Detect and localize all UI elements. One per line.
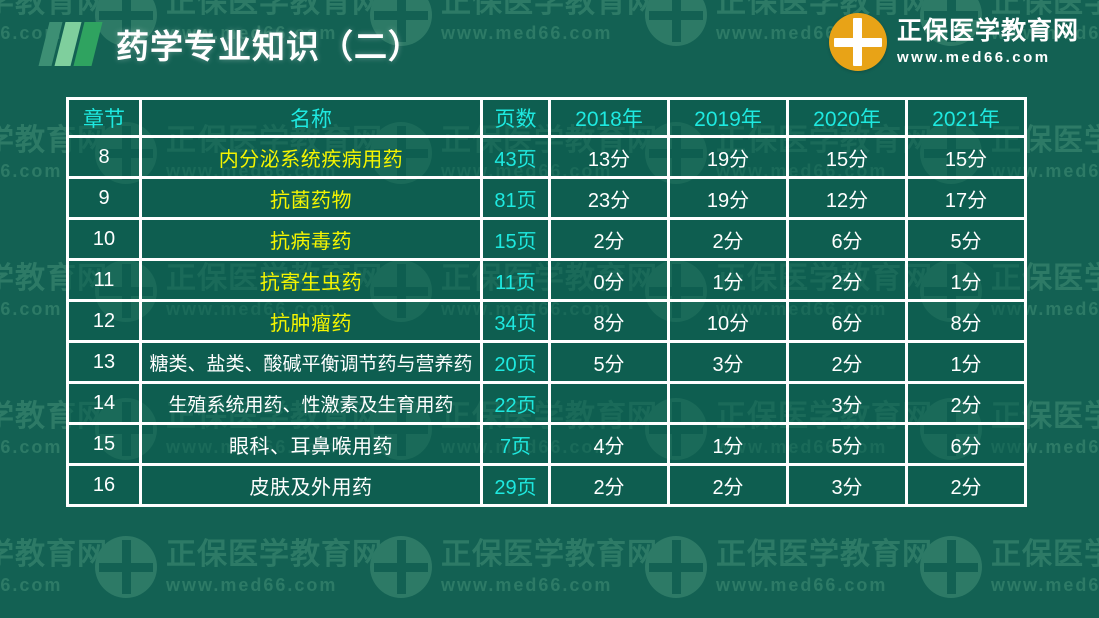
cell-y2018: 13分 [551, 138, 670, 179]
cell-y2019-value: 19分 [707, 149, 749, 171]
cell-y2020-value: 3分 [831, 477, 862, 499]
cell-y2019 [670, 384, 789, 425]
cell-y2020: 5分 [789, 425, 908, 466]
cell-name: 内分泌系统疾病用药 [142, 138, 483, 179]
cell-y2021-value: 17分 [945, 190, 987, 212]
cell-y2021: 17分 [908, 179, 1027, 220]
cell-chapter-value: 12 [93, 310, 115, 332]
cell-y2020: 15分 [789, 138, 908, 179]
cell-chapter-value: 14 [93, 392, 115, 414]
column-header-pages: 页数 [483, 97, 551, 138]
table-row: 15眼科、耳鼻喉用药7页4分1分5分6分 [66, 425, 1027, 466]
watermark-name: 正保医学教育网 [441, 540, 658, 570]
watermark-text: 正保医学教育网www.med66.com [166, 540, 383, 594]
cell-y2020-value: 2分 [831, 354, 862, 376]
cell-y2019-value: 10分 [707, 313, 749, 335]
cell-name-value: 生殖系统用药、性激素及生育用药 [168, 395, 453, 416]
column-header-2020: 2020年 [789, 97, 908, 138]
column-header-2018: 2018年 [551, 97, 670, 138]
cell-y2018-value: 2分 [593, 477, 624, 499]
cell-y2021-value: 8分 [950, 313, 981, 335]
cell-name: 抗肿瘤药 [142, 302, 483, 343]
cell-pages-value: 81页 [494, 190, 536, 212]
cell-y2018-value: 5分 [593, 354, 624, 376]
cell-y2018: 2分 [551, 466, 670, 507]
cell-name-value: 内分泌系统疾病用药 [219, 149, 404, 171]
cell-y2019: 19分 [670, 179, 789, 220]
cell-y2020: 2分 [789, 261, 908, 302]
cell-name-value: 抗肿瘤药 [270, 313, 352, 335]
watermark-url: www.med66.com [166, 576, 383, 594]
cell-name-value: 糖类、盐类、酸碱平衡调节药与营养药 [149, 354, 472, 375]
cell-y2018-value: 13分 [588, 149, 630, 171]
cell-pages-value: 7页 [500, 436, 531, 458]
brand-text: 正保医学教育网 www.med66.com [897, 19, 1079, 65]
cell-pages-value: 22页 [494, 395, 536, 417]
cell-chapter: 13 [66, 343, 142, 384]
column-header-name: 名称 [142, 97, 483, 138]
cell-y2021-value: 5分 [950, 231, 981, 253]
table-row: 12抗肿瘤药34页8分10分6分8分 [66, 302, 1027, 343]
cell-y2021-value: 2分 [950, 477, 981, 499]
table-row: 11抗寄生虫药11页0分1分2分1分 [66, 261, 1027, 302]
cell-chapter-value: 11 [94, 269, 115, 291]
column-header-2021: 2021年 [908, 97, 1027, 138]
table-row: 16皮肤及外用药29页2分2分3分2分 [66, 466, 1027, 507]
watermark-tile: 正保医学教育网www.med66.com [0, 536, 108, 598]
cell-name: 抗寄生虫药 [142, 261, 483, 302]
cell-chapter: 8 [66, 138, 142, 179]
watermark-text: 正保医学教育网www.med66.com [716, 540, 933, 594]
watermark-name: 正保医学教育网 [991, 540, 1099, 570]
cell-y2021-value: 1分 [950, 272, 981, 294]
cell-name: 皮肤及外用药 [142, 466, 483, 507]
cross-circle-logo-icon [95, 536, 157, 598]
cell-y2019: 2分 [670, 466, 789, 507]
cell-y2019: 2分 [670, 220, 789, 261]
cell-y2020-value: 12分 [826, 190, 868, 212]
cell-chapter-value: 10 [93, 228, 115, 250]
cell-pages: 20页 [483, 343, 551, 384]
column-header-2019: 2019年 [670, 97, 789, 138]
cell-y2020: 6分 [789, 220, 908, 261]
cell-pages: 43页 [483, 138, 551, 179]
table-row: 10抗病毒药15页2分2分6分5分 [66, 220, 1027, 261]
cell-y2019-value: 1分 [712, 436, 743, 458]
cell-y2019-value: 2分 [712, 477, 743, 499]
column-header-chapter: 章节 [66, 97, 142, 138]
table-row: 14生殖系统用药、性激素及生育用药22页3分2分 [66, 384, 1027, 425]
table-row: 13糖类、盐类、酸碱平衡调节药与营养药20页5分3分2分1分 [66, 343, 1027, 384]
column-header-2020-label: 2020年 [813, 108, 881, 131]
cell-pages-value: 11页 [495, 272, 536, 294]
cell-y2018-value: 23分 [588, 190, 630, 212]
cell-y2021-value: 1分 [950, 354, 981, 376]
cell-y2019: 19分 [670, 138, 789, 179]
cell-y2021-value: 6分 [950, 436, 981, 458]
cell-pages: 22页 [483, 384, 551, 425]
watermark-text: 正保医学教育网www.med66.com [441, 540, 658, 594]
cell-y2019-value: 1分 [712, 272, 743, 294]
brand-name: 正保医学教育网 [897, 19, 1079, 44]
watermark-name: 正保医学教育网 [0, 540, 108, 570]
cell-y2020: 6分 [789, 302, 908, 343]
watermark-tile: 正保医学教育网www.med66.com [95, 536, 383, 598]
cross-circle-logo-icon [920, 536, 982, 598]
cell-chapter-value: 15 [93, 433, 115, 455]
cell-y2018: 2分 [551, 220, 670, 261]
watermark-name: 正保医学教育网 [716, 540, 933, 570]
table-header: 章节 名称 页数 2018年 2019年 2020年 2021年 [66, 97, 1027, 138]
watermark-tile: 正保医学教育网www.med66.com [645, 536, 933, 598]
table-row: 9抗菌药物81页23分19分12分17分 [66, 179, 1027, 220]
watermark-url: www.med66.com [716, 576, 933, 594]
cell-name-value: 皮肤及外用药 [250, 477, 373, 499]
cell-y2018-value: 4分 [593, 436, 624, 458]
cell-pages: 29页 [483, 466, 551, 507]
page-title: 药学专业知识（二） [116, 20, 422, 68]
cell-chapter: 9 [66, 179, 142, 220]
watermark-name: 正保医学教育网 [166, 540, 383, 570]
cell-y2018-value: 0分 [593, 272, 624, 294]
cell-y2018: 4分 [551, 425, 670, 466]
cell-y2020: 12分 [789, 179, 908, 220]
cell-chapter-value: 16 [93, 474, 115, 496]
cell-pages-value: 15页 [494, 231, 536, 253]
watermark-url: www.med66.com [441, 576, 658, 594]
cell-pages: 34页 [483, 302, 551, 343]
cell-y2021: 1分 [908, 343, 1027, 384]
cell-y2021: 2分 [908, 466, 1027, 507]
cell-chapter: 16 [66, 466, 142, 507]
cross-circle-logo-icon [645, 536, 707, 598]
column-header-2019-label: 2019年 [694, 108, 762, 131]
cell-y2021: 6分 [908, 425, 1027, 466]
cell-y2018 [551, 384, 670, 425]
cell-y2020: 3分 [789, 466, 908, 507]
column-header-pages-label: 页数 [495, 108, 537, 131]
cell-name: 生殖系统用药、性激素及生育用药 [142, 384, 483, 425]
column-header-name-label: 名称 [290, 108, 332, 131]
cell-y2020-value: 15分 [826, 149, 868, 171]
brand-url-label: www.med66.com [897, 50, 1079, 65]
cell-y2019-value: 19分 [707, 190, 749, 212]
cell-pages-value: 20页 [494, 354, 536, 376]
cell-y2020-value: 3分 [831, 395, 862, 417]
cell-chapter: 14 [66, 384, 142, 425]
exam-score-table: 章节 名称 页数 2018年 2019年 2020年 2021年 8内分泌系统疾… [66, 97, 1027, 507]
brand-logo: 正保医学教育网 www.med66.com [829, 8, 1079, 76]
column-header-2021-label: 2021年 [932, 108, 1000, 131]
table-header-row: 章节 名称 页数 2018年 2019年 2020年 2021年 [66, 97, 1027, 138]
cell-y2018-value: 2分 [593, 231, 624, 253]
cell-name: 抗病毒药 [142, 220, 483, 261]
cell-y2020: 2分 [789, 343, 908, 384]
cross-circle-logo-icon [829, 13, 887, 71]
cell-pages-value: 29页 [494, 477, 536, 499]
cell-y2020-value: 5分 [831, 436, 862, 458]
cell-chapter: 15 [66, 425, 142, 466]
cell-chapter-value: 9 [98, 187, 109, 209]
cell-pages-value: 34页 [494, 313, 536, 335]
cell-y2019: 3分 [670, 343, 789, 384]
cell-y2020-value: 6分 [831, 231, 862, 253]
cell-y2019: 1分 [670, 425, 789, 466]
cell-chapter: 11 [66, 261, 142, 302]
cell-name: 糖类、盐类、酸碱平衡调节药与营养药 [142, 343, 483, 384]
cell-y2018: 23分 [551, 179, 670, 220]
cross-circle-logo-icon [370, 536, 432, 598]
cell-name-value: 抗菌药物 [270, 190, 352, 212]
cell-name: 眼科、耳鼻喉用药 [142, 425, 483, 466]
cell-y2018-value: 8分 [593, 313, 624, 335]
cell-y2020-value: 2分 [831, 272, 862, 294]
cell-pages: 15页 [483, 220, 551, 261]
watermark-tile: 正保医学教育网www.med66.com [920, 536, 1099, 598]
column-header-2018-label: 2018年 [575, 108, 643, 131]
cell-chapter: 10 [66, 220, 142, 261]
cell-name: 抗菌药物 [142, 179, 483, 220]
cell-name-value: 眼科、耳鼻喉用药 [229, 436, 393, 458]
cell-pages-value: 43页 [494, 149, 536, 171]
cell-name-value: 抗病毒药 [270, 231, 352, 253]
cell-pages: 11页 [483, 261, 551, 302]
cell-y2019: 10分 [670, 302, 789, 343]
column-header-chapter-label: 章节 [83, 108, 125, 131]
cell-chapter-value: 8 [98, 146, 109, 168]
cell-y2021: 5分 [908, 220, 1027, 261]
watermark-text: 正保医学教育网www.med66.com [991, 540, 1099, 594]
cell-y2021: 2分 [908, 384, 1027, 425]
watermark-tile: 正保医学教育网www.med66.com [370, 536, 658, 598]
cell-y2018: 0分 [551, 261, 670, 302]
cell-y2019: 1分 [670, 261, 789, 302]
cell-y2019-value: 3分 [712, 354, 743, 376]
watermark-url: www.med66.com [991, 576, 1099, 594]
watermark-url: www.med66.com [0, 576, 108, 594]
cell-y2018: 5分 [551, 343, 670, 384]
cell-chapter: 12 [66, 302, 142, 343]
cell-y2018: 8分 [551, 302, 670, 343]
cell-name-value: 抗寄生虫药 [260, 272, 363, 294]
cell-chapter-value: 13 [93, 351, 115, 373]
cell-pages: 7页 [483, 425, 551, 466]
table-row: 8内分泌系统疾病用药43页13分19分15分15分 [66, 138, 1027, 179]
cell-y2021: 8分 [908, 302, 1027, 343]
slanted-bars-icon [42, 22, 104, 66]
cell-pages: 81页 [483, 179, 551, 220]
cell-y2019-value: 2分 [712, 231, 743, 253]
cell-y2020: 3分 [789, 384, 908, 425]
table-body: 8内分泌系统疾病用药43页13分19分15分15分9抗菌药物81页23分19分1… [66, 138, 1027, 507]
cell-y2021: 1分 [908, 261, 1027, 302]
cell-y2020-value: 6分 [831, 313, 862, 335]
cell-y2021: 15分 [908, 138, 1027, 179]
cell-y2021-value: 2分 [950, 395, 981, 417]
watermark-text: 正保医学教育网www.med66.com [0, 540, 108, 594]
cell-y2021-value: 15分 [945, 149, 987, 171]
